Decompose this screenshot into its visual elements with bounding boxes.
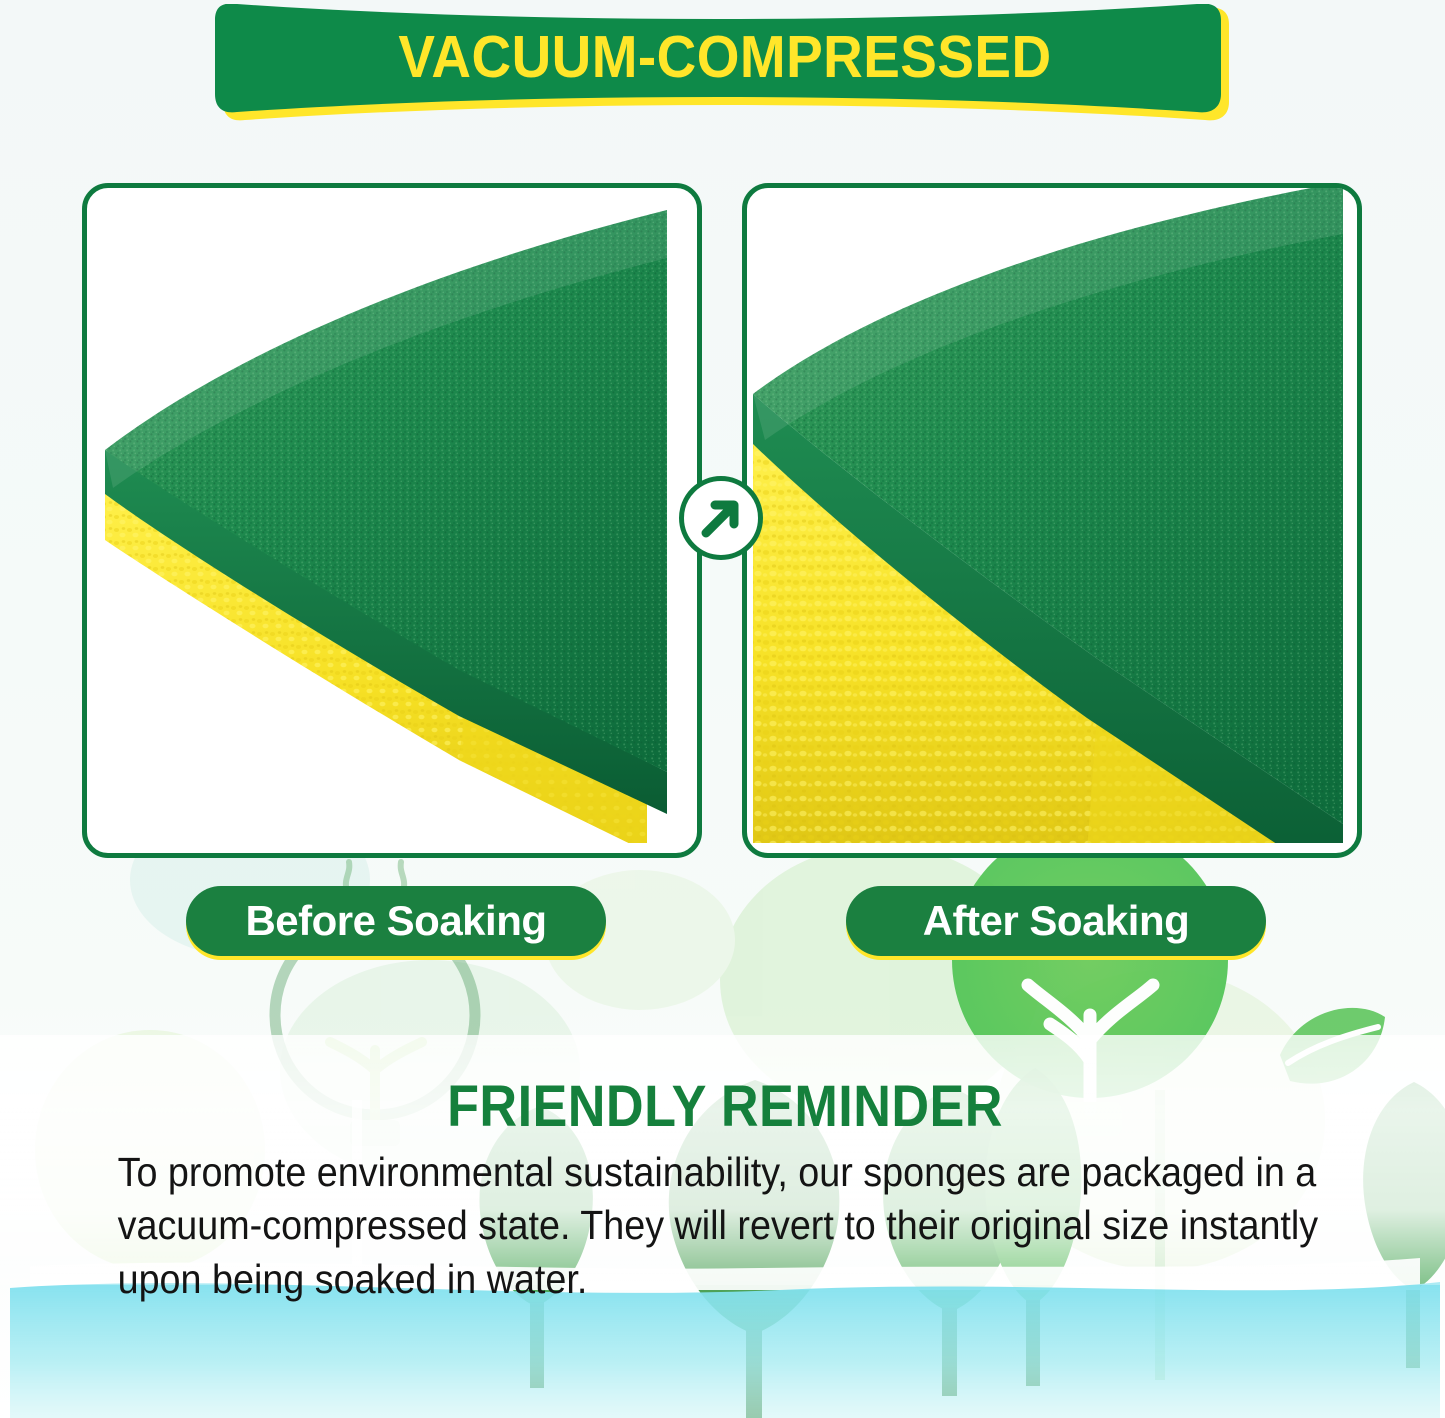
reminder-title: FRIENDLY REMINDER — [154, 1078, 1297, 1136]
caption-before-soaking: Before Soaking — [186, 886, 606, 956]
panel-after-soaking — [742, 183, 1362, 858]
banner-title: VACUUM-COMPRESSED — [241, 4, 1208, 110]
caption-after-label: After Soaking — [923, 897, 1190, 945]
caption-after-soaking: After Soaking — [846, 886, 1266, 956]
arrow-up-right-icon — [679, 476, 763, 560]
leaf-icon — [1280, 1008, 1385, 1084]
sponge-after-image — [747, 188, 1357, 853]
reminder-body: To promote environmental sustainability,… — [90, 1146, 1341, 1306]
vacuum-compressed-banner: VACUUM-COMPRESSED — [205, 4, 1245, 124]
caption-before-label: Before Soaking — [245, 897, 546, 945]
sponge-before-image — [87, 188, 697, 853]
friendly-reminder-block: FRIENDLY REMINDER To promote environment… — [90, 1078, 1360, 1306]
infographic-canvas: 0% — [0, 0, 1445, 1418]
panel-before-soaking — [82, 183, 702, 858]
